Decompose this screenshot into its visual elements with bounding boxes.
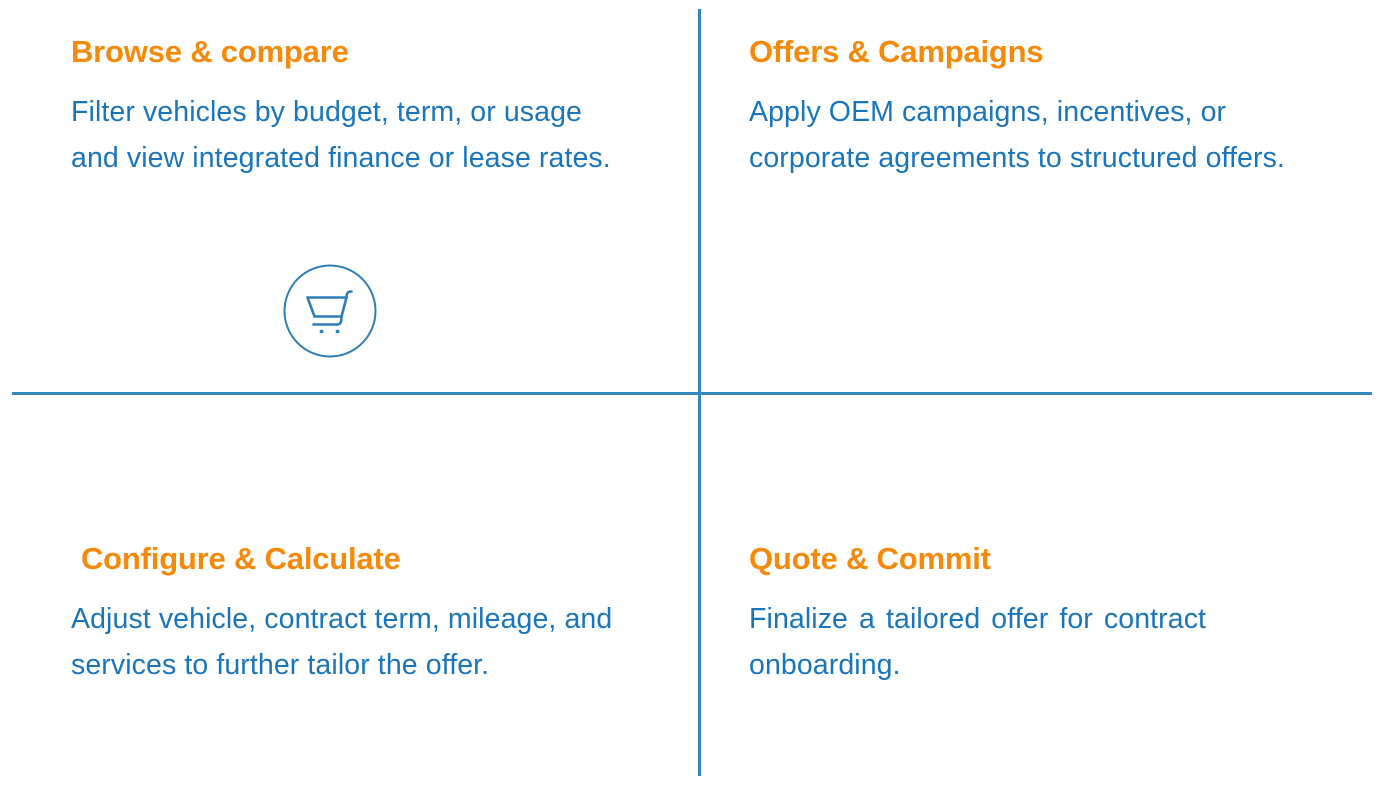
- quadrant-body-quote-commit: Finalize a tailored offer for contract o…: [749, 596, 1349, 688]
- feature-quadrant-grid: Browse & compare Filter vehicles by budg…: [0, 0, 1400, 788]
- quadrant-quote-commit: Quote & Commit Finalize a tailored offer…: [701, 395, 1400, 788]
- quadrant-text-block: Quote & Commit Finalize a tailored offer…: [749, 543, 1349, 688]
- quadrant-heading-quote-commit: Quote & Commit: [749, 543, 1349, 574]
- shopping-cart-icon: [283, 264, 377, 358]
- quadrant-text-block: Browse & compare Filter vehicles by budg…: [71, 36, 631, 181]
- quadrant-body-offers-campaigns: Apply OEM campaigns, incentives, or corp…: [749, 89, 1339, 181]
- quadrant-configure-calculate: Configure & Calculate Adjust vehicle, co…: [0, 395, 698, 788]
- quadrant-text-block: Configure & Calculate Adjust vehicle, co…: [71, 543, 631, 688]
- quadrant-text-block: Offers & Campaigns Apply OEM campaigns, …: [749, 36, 1339, 181]
- quadrant-heading-offers-campaigns: Offers & Campaigns: [749, 36, 1339, 67]
- quadrant-browse-compare: Browse & compare Filter vehicles by budg…: [0, 0, 698, 392]
- quadrant-heading-configure-calculate: Configure & Calculate: [71, 543, 631, 574]
- quadrant-offers-campaigns: Offers & Campaigns Apply OEM campaigns, …: [701, 0, 1400, 392]
- quadrant-body-browse-compare: Filter vehicles by budget, term, or usag…: [71, 89, 631, 181]
- quadrant-heading-browse-compare: Browse & compare: [71, 36, 631, 67]
- quadrant-body-configure-calculate: Adjust vehicle, contract term, mileage, …: [71, 596, 631, 688]
